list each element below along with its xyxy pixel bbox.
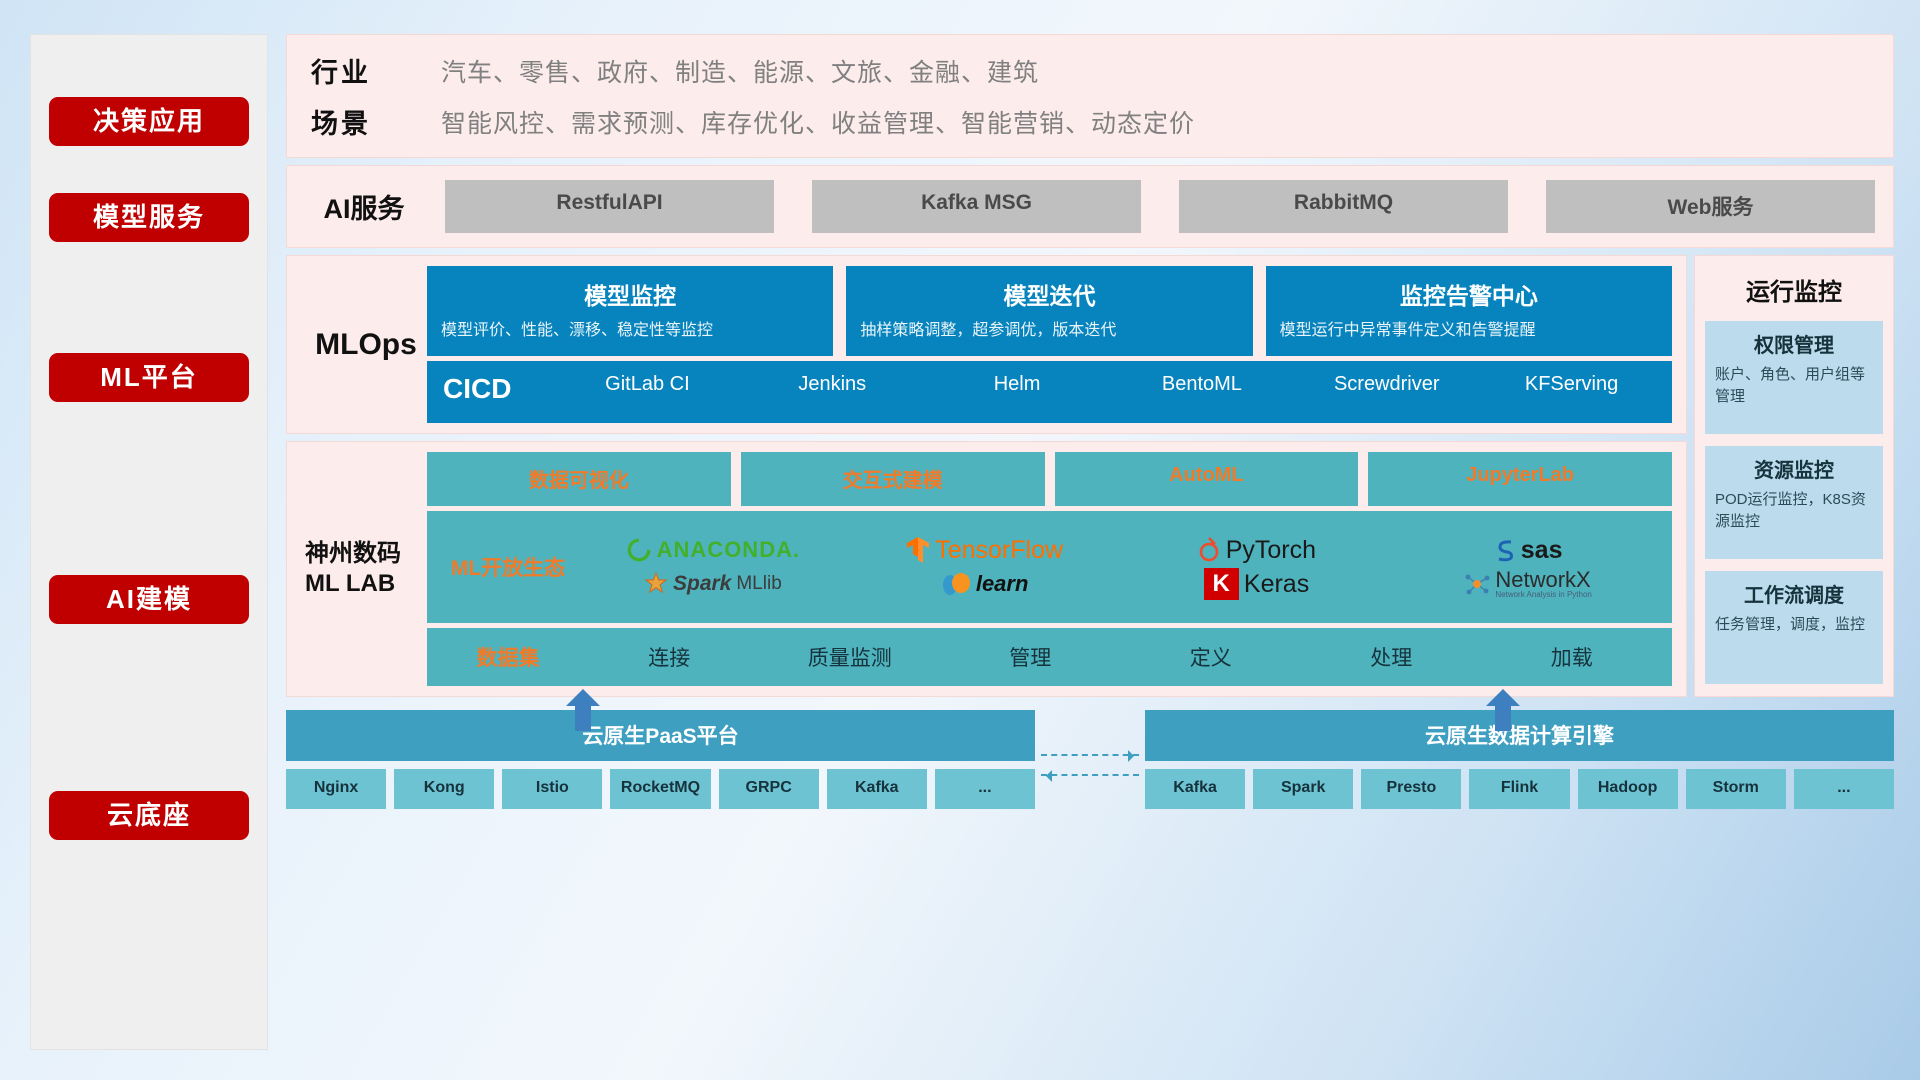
engine-tag-hadoop[interactable]: Hadoop [1578, 769, 1678, 808]
card-title: 监控告警中心 [1280, 277, 1658, 311]
card-desc: 模型运行中异常事件定义和告警提醒 [1280, 319, 1658, 342]
mlops-band: MLOps 模型监控 模型评价、性能、漂移、稳定性等监控 模型迭代 抽样策略调整… [286, 255, 1687, 434]
bidirectional-arrows [1041, 754, 1139, 776]
networkx-logo[interactable]: NetworkX Network Analysis in Python [1464, 569, 1592, 599]
cicd-item-kfserving[interactable]: KFServing [1479, 373, 1664, 395]
monitor-card-resource[interactable]: 资源监控 POD运行监控，K8S资源监控 [1705, 446, 1883, 559]
logo-text: PyTorch [1226, 536, 1316, 565]
scikit-learn-icon [941, 571, 971, 597]
pytorch-icon [1197, 537, 1221, 563]
engine-tags: Kafka Spark Presto Flink Hadoop Storm ..… [1145, 769, 1894, 808]
paas-column: 云原生PaaS平台 Nginx Kong Istio RocketMQ GRPC… [286, 710, 1035, 808]
engine-tag-spark[interactable]: Spark [1253, 769, 1353, 808]
ml-ecosystem-logos: ANACONDA. TensorFlow [579, 534, 1662, 600]
logo-text: Keras [1244, 570, 1309, 599]
paas-tag-grpc[interactable]: GRPC [719, 769, 819, 808]
card-desc: 任务管理，调度，监控 [1715, 614, 1873, 636]
ml-ecosystem-title: ML开放生态 [437, 552, 579, 582]
paas-header[interactable]: 云原生PaaS平台 [286, 710, 1035, 761]
engine-tag-presto[interactable]: Presto [1361, 769, 1461, 808]
up-arrow-paas-icon [566, 689, 600, 731]
mlops-card-model-monitoring[interactable]: 模型监控 模型评价、性能、漂移、稳定性等监控 [427, 266, 833, 356]
paas-tag-istio[interactable]: Istio [502, 769, 602, 808]
engine-tag-kafka[interactable]: Kafka [1145, 769, 1245, 808]
rail-item-cloud-base[interactable]: 云底座 [49, 791, 249, 840]
ai-service-band: AI服务 RestfulAPI Kafka MSG RabbitMQ Web服务 [286, 165, 1894, 248]
dataset-item-process[interactable]: 处理 [1301, 642, 1482, 672]
tab-interactive-modeling[interactable]: 交互式建模 [741, 452, 1045, 506]
decision-app-band: 行业 汽车、零售、政府、制造、能源、文旅、金融、建筑 场景 智能风控、需求预测、… [286, 34, 1894, 158]
paas-tags: Nginx Kong Istio RocketMQ GRPC Kafka ... [286, 769, 1035, 808]
logo-text: TensorFlow [935, 536, 1063, 565]
industry-value: 汽车、零售、政府、制造、能源、文旅、金融、建筑 [441, 53, 1039, 89]
ml-lab-tabs: 数据可视化 交互式建模 AutoML JupyterLab [427, 452, 1672, 506]
paas-tag-nginx[interactable]: Nginx [286, 769, 386, 808]
platform-section: MLOps 模型监控 模型评价、性能、漂移、稳定性等监控 模型迭代 抽样策略调整… [286, 255, 1894, 697]
dataset-row: 数据集 连接 质量监测 管理 定义 处理 加载 [427, 628, 1672, 686]
ai-service-kafka-msg[interactable]: Kafka MSG [812, 180, 1141, 233]
logo-text: ANACONDA. [657, 537, 800, 563]
ml-lab-label-line2: ML LAB [305, 569, 427, 599]
card-desc: 模型评价、性能、漂移、稳定性等监控 [441, 319, 819, 342]
networkx-icon [1464, 572, 1490, 596]
cicd-label: CICD [443, 373, 547, 405]
anaconda-icon [626, 537, 652, 563]
networkx-tagline: Network Analysis in Python [1495, 591, 1592, 599]
sas-logo[interactable]: sas [1494, 536, 1563, 565]
tensorflow-icon [906, 536, 930, 564]
paas-tag-more[interactable]: ... [935, 769, 1035, 808]
rail-item-ml-platform[interactable]: ML平台 [49, 353, 249, 402]
rail-item-model-service[interactable]: 模型服务 [49, 193, 249, 242]
mlops-cards: 模型监控 模型评价、性能、漂移、稳定性等监控 模型迭代 抽样策略调整，超参调优，… [427, 266, 1672, 356]
sas-icon [1494, 538, 1516, 562]
scenario-value: 智能风控、需求预测、库存优化、收益管理、智能营销、动态定价 [441, 104, 1195, 140]
tab-automl[interactable]: AutoML [1055, 452, 1359, 506]
paas-tag-kong[interactable]: Kong [394, 769, 494, 808]
engine-tag-storm[interactable]: Storm [1686, 769, 1786, 808]
dataset-item-load[interactable]: 加载 [1482, 642, 1663, 672]
tensorflow-logo[interactable]: TensorFlow [906, 536, 1063, 565]
tab-jupyterlab[interactable]: JupyterLab [1368, 452, 1672, 506]
arrow-right-icon [1041, 754, 1139, 756]
ml-lab-band: 神州数码 ML LAB 数据可视化 交互式建模 AutoML JupyterLa… [286, 441, 1687, 697]
card-desc: 账户、角色、用户组等管理 [1715, 364, 1873, 408]
mlops-card-model-iteration[interactable]: 模型迭代 抽样策略调整，超参调优，版本迭代 [846, 266, 1252, 356]
scenario-label: 场景 [311, 102, 407, 141]
cicd-item-bentoml[interactable]: BentoML [1109, 373, 1294, 395]
ai-service-restfulapi[interactable]: RestfulAPI [445, 180, 774, 233]
spark-icon [644, 572, 668, 596]
up-arrow-engine-icon [1486, 689, 1520, 731]
anaconda-logo[interactable]: ANACONDA. [626, 537, 800, 563]
cicd-items: GitLab CI Jenkins Helm BentoML Screwdriv… [555, 373, 1664, 395]
runtime-monitor-title: 运行监控 [1705, 268, 1883, 309]
industry-row: 行业 汽车、零售、政府、制造、能源、文旅、金融、建筑 [311, 51, 1875, 90]
rail-item-ai-modeling[interactable]: AI建模 [49, 575, 249, 624]
cloud-base-section: 云原生PaaS平台 Nginx Kong Istio RocketMQ GRPC… [286, 704, 1894, 808]
ai-service-label: AI服务 [305, 187, 423, 226]
monitor-card-workflow[interactable]: 工作流调度 任务管理，调度，监控 [1705, 571, 1883, 684]
dataset-item-connect[interactable]: 连接 [579, 642, 760, 672]
card-title: 模型迭代 [860, 277, 1238, 311]
mlops-card-alert-center[interactable]: 监控告警中心 模型运行中异常事件定义和告警提醒 [1266, 266, 1672, 356]
dataset-item-manage[interactable]: 管理 [940, 642, 1121, 672]
ml-lab-label: 神州数码 ML LAB [305, 452, 427, 686]
dataset-items: 连接 质量监测 管理 定义 处理 加载 [579, 642, 1662, 672]
monitor-card-permission[interactable]: 权限管理 账户、角色、用户组等管理 [1705, 321, 1883, 434]
ai-service-rabbitmq[interactable]: RabbitMQ [1179, 180, 1508, 233]
keras-icon: K [1204, 568, 1239, 600]
card-title: 模型监控 [441, 277, 819, 311]
runtime-monitor-panel: 运行监控 权限管理 账户、角色、用户组等管理 资源监控 POD运行监控，K8S资… [1694, 255, 1894, 697]
logo-text: MLlib [736, 573, 781, 595]
engine-tag-flink[interactable]: Flink [1469, 769, 1569, 808]
keras-logo[interactable]: K Keras [1204, 568, 1310, 600]
scikit-learn-logo[interactable]: learn [941, 571, 1029, 597]
card-title: 工作流调度 [1715, 579, 1873, 608]
main-column: 行业 汽车、零售、政府、制造、能源、文旅、金融、建筑 场景 智能风控、需求预测、… [286, 34, 1894, 1050]
mlops-grid: 模型监控 模型评价、性能、漂移、稳定性等监控 模型迭代 抽样策略调整，超参调优，… [427, 266, 1672, 423]
logo-spark-text: Spark [673, 572, 731, 596]
layer-rail: 决策应用 模型服务 ML平台 AI建模 云底座 [30, 34, 268, 1050]
rail-item-decision-app[interactable]: 决策应用 [49, 97, 249, 146]
industry-label: 行业 [311, 51, 407, 90]
platform-left: MLOps 模型监控 模型评价、性能、漂移、稳定性等监控 模型迭代 抽样策略调整… [286, 255, 1687, 697]
dataset-item-quality[interactable]: 质量监测 [760, 642, 941, 672]
engine-tag-more[interactable]: ... [1794, 769, 1894, 808]
cicd-item-jenkins[interactable]: Jenkins [740, 373, 925, 395]
arrow-left-icon [1041, 774, 1139, 776]
cicd-item-helm[interactable]: Helm [925, 373, 1110, 395]
card-title: 资源监控 [1715, 454, 1873, 483]
card-desc: POD运行监控，K8S资源监控 [1715, 489, 1873, 533]
scenario-row: 场景 智能风控、需求预测、库存优化、收益管理、智能营销、动态定价 [311, 102, 1875, 141]
ml-ecosystem-row: ML开放生态 ANACONDA. [427, 511, 1672, 623]
dataset-title: 数据集 [437, 642, 579, 672]
logo-text: learn [976, 571, 1029, 597]
cicd-item-gitlab-ci[interactable]: GitLab CI [555, 373, 740, 395]
paas-tag-rocketmq[interactable]: RocketMQ [610, 769, 710, 808]
pytorch-logo[interactable]: PyTorch [1197, 536, 1316, 565]
ai-service-web[interactable]: Web服务 [1546, 180, 1875, 233]
cicd-item-screwdriver[interactable]: Screwdriver [1294, 373, 1479, 395]
cicd-row: CICD GitLab CI Jenkins Helm BentoML Scre… [427, 361, 1672, 423]
ml-lab-grid: 数据可视化 交互式建模 AutoML JupyterLab ML开放生态 [427, 452, 1672, 686]
mlops-label: MLOps [305, 266, 427, 423]
architecture-diagram: 决策应用 模型服务 ML平台 AI建模 云底座 行业 汽车、零售、政府、制造、能… [0, 0, 1920, 1080]
ai-service-buttons: RestfulAPI Kafka MSG RabbitMQ Web服务 [445, 180, 1875, 233]
logo-text: NetworkX [1495, 569, 1592, 591]
spark-mllib-logo[interactable]: Spark MLlib [644, 572, 782, 596]
ml-lab-label-line1: 神州数码 [305, 539, 427, 569]
card-desc: 抽样策略调整，超参调优，版本迭代 [860, 319, 1238, 342]
dataset-item-define[interactable]: 定义 [1121, 642, 1302, 672]
card-title: 权限管理 [1715, 329, 1873, 358]
tab-data-visualization[interactable]: 数据可视化 [427, 452, 731, 506]
logo-text: sas [1521, 536, 1563, 565]
paas-tag-kafka[interactable]: Kafka [827, 769, 927, 808]
